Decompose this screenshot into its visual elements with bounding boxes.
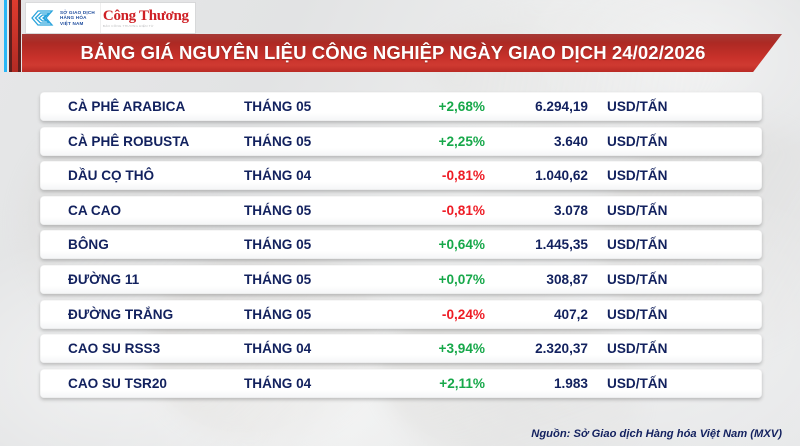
commodity-name: CAO SU RSS3 <box>68 341 160 356</box>
price-unit: USD/TẤN <box>607 203 667 218</box>
table-row: CAO SU TSR20THÁNG 04+2,11%1.983USD/TẤN <box>40 369 762 398</box>
title-banner: BẢNG GIÁ NGUYÊN LIỆU CÔNG NGHIỆP NGÀY GI… <box>22 34 782 72</box>
commodity-name: BÔNG <box>68 237 109 252</box>
contract-month: THÁNG 05 <box>244 307 311 322</box>
commodity-name: ĐƯỜNG 11 <box>68 272 139 287</box>
table-row: ĐƯỜNG TRẮNGTHÁNG 05-0,24%407,2USD/TẤN <box>40 300 762 329</box>
price-change: +2,11% <box>380 376 485 391</box>
price-value: 6.294,19 <box>490 99 588 114</box>
price-unit: USD/TẤN <box>607 272 667 287</box>
price-change: +0,07% <box>380 272 485 287</box>
table-row: DẦU CỌ THÔTHÁNG 04-0,81%1.040,62USD/TẤN <box>40 161 762 190</box>
logo-bar: SỞ GIAO DỊCH HÀNG HÓA VIỆT NAM Công Thươ… <box>26 3 195 33</box>
contract-month: THÁNG 04 <box>244 341 311 356</box>
congthuong-name: Công Thương <box>103 9 189 24</box>
price-change: -0,81% <box>380 168 485 183</box>
table-row: CAO SU RSS3THÁNG 04+3,94%2.320,37USD/TẤN <box>40 334 762 363</box>
table-row: CÀ PHÊ ARABICATHÁNG 05+2,68%6.294,19USD/… <box>40 92 762 121</box>
congthuong-subtitle: BÁO CÔNG THƯƠNG ĐIỆN TỬ <box>103 24 189 28</box>
price-change: +2,68% <box>380 99 485 114</box>
price-change: +0,64% <box>380 237 485 252</box>
commodity-name: CÀ PHÊ ARABICA <box>68 99 185 114</box>
price-value: 3.640 <box>490 134 588 149</box>
price-change: -0,81% <box>380 203 485 218</box>
price-value: 407,2 <box>490 307 588 322</box>
mxv-line-3: VIỆT NAM <box>60 21 95 27</box>
price-unit: USD/TẤN <box>607 134 667 149</box>
commodity-name: DẦU CỌ THÔ <box>68 168 154 183</box>
price-unit: USD/TẤN <box>607 168 667 183</box>
price-unit: USD/TẤN <box>607 237 667 252</box>
commodity-name: ĐƯỜNG TRẮNG <box>68 307 173 322</box>
price-value: 2.320,37 <box>490 341 588 356</box>
price-value: 308,87 <box>490 272 588 287</box>
contract-month: THÁNG 05 <box>244 134 311 149</box>
contract-month: THÁNG 05 <box>244 99 311 114</box>
price-unit: USD/TẤN <box>607 376 667 391</box>
price-unit: USD/TẤN <box>607 341 667 356</box>
price-change: -0,24% <box>380 307 485 322</box>
price-unit: USD/TẤN <box>607 99 667 114</box>
commodity-table: CÀ PHÊ ARABICATHÁNG 05+2,68%6.294,19USD/… <box>40 92 762 403</box>
price-value: 1.983 <box>490 376 588 391</box>
stripe-dark-red-2 <box>18 0 21 72</box>
mxv-diamond-logo-icon <box>30 8 56 28</box>
source-note: Nguồn: Sở Giao dịch Hàng hóa Việt Nam (M… <box>531 428 782 440</box>
contract-month: THÁNG 05 <box>244 203 311 218</box>
price-change: +2,25% <box>380 134 485 149</box>
price-value: 1.040,62 <box>490 168 588 183</box>
commodity-name: CA CAO <box>68 203 121 218</box>
price-change: +3,94% <box>380 341 485 356</box>
commodity-name: CAO SU TSR20 <box>68 376 167 391</box>
table-row: BÔNGTHÁNG 05+0,64%1.445,35USD/TẤN <box>40 230 762 259</box>
left-accent-stripes <box>4 0 22 72</box>
congthuong-logo: Công Thương BÁO CÔNG THƯƠNG ĐIỆN TỬ <box>100 3 195 33</box>
mxv-logo-text: SỞ GIAO DỊCH HÀNG HÓA VIỆT NAM <box>60 10 95 27</box>
contract-month: THÁNG 04 <box>244 376 311 391</box>
price-unit: USD/TẤN <box>607 307 667 322</box>
table-row: ĐƯỜNG 11THÁNG 05+0,07%308,87USD/TẤN <box>40 265 762 294</box>
contract-month: THÁNG 05 <box>244 272 311 287</box>
table-row: CÀ PHÊ ROBUSTATHÁNG 05+2,25%3.640USD/TẤN <box>40 127 762 156</box>
contract-month: THÁNG 04 <box>244 168 311 183</box>
mxv-logo: SỞ GIAO DỊCH HÀNG HÓA VIỆT NAM <box>26 3 100 33</box>
price-value: 1.445,35 <box>490 237 588 252</box>
contract-month: THÁNG 05 <box>244 237 311 252</box>
table-row: CA CAOTHÁNG 05-0,81%3.078USD/TẤN <box>40 196 762 225</box>
commodity-name: CÀ PHÊ ROBUSTA <box>68 134 189 149</box>
price-board: SỞ GIAO DỊCH HÀNG HÓA VIỆT NAM Công Thươ… <box>0 0 800 446</box>
price-value: 3.078 <box>490 203 588 218</box>
page-title: BẢNG GIÁ NGUYÊN LIỆU CÔNG NGHIỆP NGÀY GI… <box>80 42 705 64</box>
